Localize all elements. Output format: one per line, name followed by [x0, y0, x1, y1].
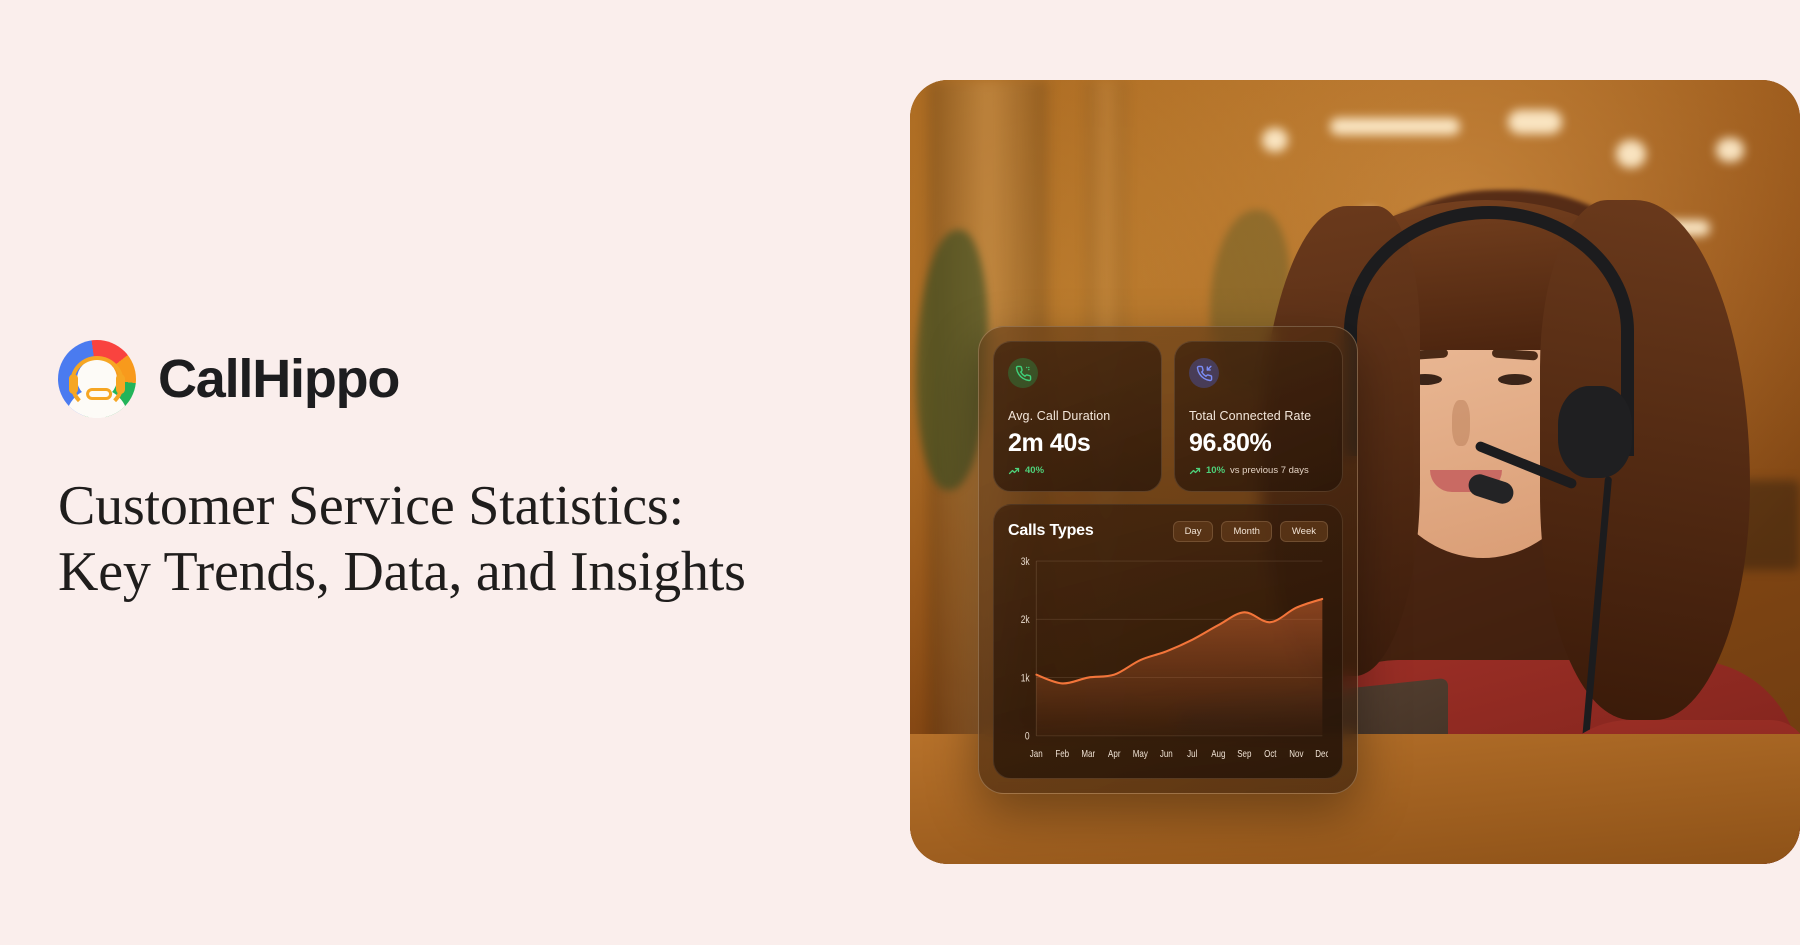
kpi-card-avg-call-duration[interactable]: Avg. Call Duration 2m 40s 40% [993, 341, 1162, 492]
range-button-week[interactable]: Week [1280, 521, 1328, 542]
svg-text:Jul: Jul [1187, 748, 1197, 759]
phone-incoming-icon [1189, 358, 1219, 388]
range-button-month[interactable]: Month [1221, 521, 1271, 542]
kpi-delta-comparison: vs previous 7 days [1230, 465, 1309, 476]
svg-text:Oct: Oct [1264, 748, 1277, 759]
kpi-delta: 10% vs previous 7 days [1189, 465, 1328, 477]
svg-text:Feb: Feb [1055, 748, 1069, 759]
phone-outgoing-icon [1008, 358, 1038, 388]
svg-text:Apr: Apr [1108, 748, 1120, 759]
brand-row: CallHippo [58, 340, 858, 418]
svg-text:1k: 1k [1021, 672, 1030, 684]
kpi-value: 96.80% [1189, 430, 1328, 458]
logo-headset-mic [86, 388, 112, 400]
chart-title: Calls Types [1008, 522, 1094, 540]
hero-photo-panel: Avg. Call Duration 2m 40s 40% [910, 80, 1800, 864]
range-toggle-group: Day Month Week [1173, 521, 1328, 542]
trend-up-icon [1189, 465, 1201, 477]
kpi-label: Total Connected Rate [1189, 409, 1328, 423]
hero-left-column: CallHippo Customer Service Statistics: K… [58, 0, 858, 945]
chart-plot-area[interactable]: 01k2k3k JanFebMarAprMayJunJulAugSepOctNo… [1008, 554, 1328, 767]
calls-types-area-chart: 01k2k3k JanFebMarAprMayJunJulAugSepOctNo… [1008, 554, 1328, 767]
kpi-delta-value: 40% [1025, 465, 1044, 476]
callhippo-logo-icon [58, 340, 136, 418]
kpi-card-row: Avg. Call Duration 2m 40s 40% [993, 341, 1343, 492]
headset-earcup [1558, 386, 1632, 478]
kpi-card-total-connected-rate[interactable]: Total Connected Rate 96.80% 10% vs previ… [1174, 341, 1343, 492]
svg-text:Aug: Aug [1211, 748, 1225, 759]
ceiling-light-bokeh [1330, 118, 1460, 135]
ceiling-light-bokeh [1508, 110, 1562, 134]
svg-text:Mar: Mar [1081, 748, 1095, 759]
logo-headset-ear-right [116, 374, 125, 394]
ceiling-light-bokeh [1716, 138, 1744, 162]
svg-text:Nov: Nov [1289, 748, 1304, 759]
kpi-label: Avg. Call Duration [1008, 409, 1147, 423]
ceiling-light-bokeh [1262, 128, 1288, 152]
svg-text:May: May [1133, 748, 1149, 759]
svg-text:0: 0 [1025, 730, 1030, 742]
svg-text:Jan: Jan [1030, 748, 1043, 759]
logo-headset-ear-left [69, 374, 78, 394]
range-button-day[interactable]: Day [1173, 521, 1214, 542]
kpi-delta: 40% [1008, 465, 1147, 477]
analytics-dashboard-overlay: Avg. Call Duration 2m 40s 40% [978, 326, 1358, 794]
page-title: Customer Service Statistics: Key Trends,… [58, 474, 758, 605]
chart-header: Calls Types Day Month Week [1008, 521, 1328, 542]
svg-text:2k: 2k [1021, 614, 1030, 626]
kpi-delta-value: 10% [1206, 465, 1225, 476]
kpi-value: 2m 40s [1008, 430, 1147, 458]
svg-text:Jun: Jun [1160, 748, 1173, 759]
trend-up-icon [1008, 465, 1020, 477]
svg-text:Sep: Sep [1237, 748, 1251, 759]
svg-text:Dec: Dec [1315, 748, 1328, 759]
brand-name: CallHippo [158, 348, 399, 410]
svg-text:3k: 3k [1021, 556, 1030, 568]
calls-types-chart-card: Calls Types Day Month Week 01k2k3k JanFe… [993, 504, 1343, 780]
